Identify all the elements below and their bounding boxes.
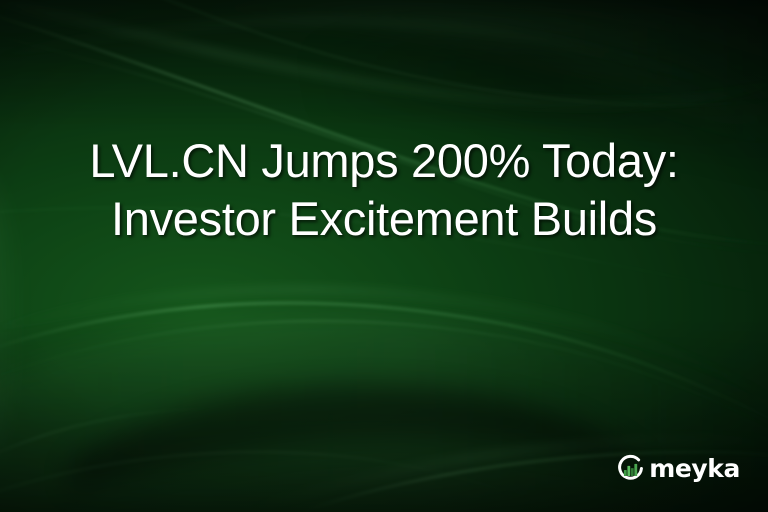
news-banner-card: LVL.CN Jumps 200% Today: Investor Excite…	[0, 0, 768, 512]
headline-line-1: LVL.CN Jumps 200% Today:	[0, 132, 768, 190]
logo-wordmark: meyka	[649, 456, 740, 481]
circle-bar-chart-icon	[615, 453, 646, 484]
background-vignette	[0, 0, 768, 512]
headline-block: LVL.CN Jumps 200% Today: Investor Excite…	[0, 132, 768, 248]
headline-line-2: Investor Excitement Builds	[0, 190, 768, 248]
meyka-logo[interactable]: meyka	[615, 453, 740, 484]
